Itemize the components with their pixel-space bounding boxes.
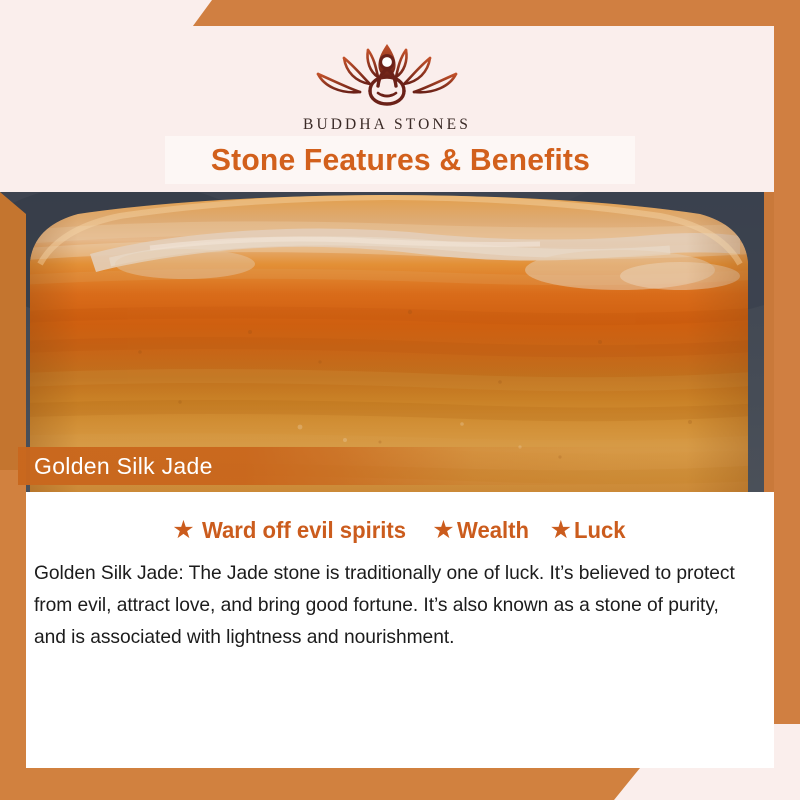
title-banner: Stone Features & Benefits bbox=[165, 136, 635, 184]
stone-name-label: Golden Silk Jade bbox=[34, 453, 213, 480]
frame-bottom-bar bbox=[0, 768, 640, 800]
benefit-label: Ward off evil spirits bbox=[202, 517, 406, 544]
benefits-list: ★ Ward off evil spirits ★ Wealth ★ Luck bbox=[26, 492, 774, 544]
benefit-item-1: ★ Ward off evil spirits bbox=[172, 517, 414, 544]
lotus-meditation-figure-icon bbox=[302, 34, 472, 112]
infographic-page: BUDDHA STONES Stone Features & Benefits bbox=[0, 0, 800, 800]
brand-name: BUDDHA STONES bbox=[303, 116, 471, 134]
benefit-label: Luck bbox=[574, 517, 626, 544]
benefit-item-3: ★ Luck bbox=[550, 517, 628, 544]
star-icon: ★ bbox=[172, 518, 194, 543]
frame-left-bar bbox=[0, 470, 26, 800]
star-icon: ★ bbox=[432, 518, 454, 543]
benefit-item-2: ★ Wealth bbox=[432, 517, 531, 544]
star-icon: ★ bbox=[550, 518, 572, 543]
stone-name-banner: Golden Silk Jade bbox=[18, 447, 778, 485]
frame-right-bar bbox=[774, 0, 800, 724]
content-area: ★ Ward off evil spirits ★ Wealth ★ Luck … bbox=[26, 492, 774, 768]
page-title: Stone Features & Benefits bbox=[210, 142, 589, 178]
brand-logo: BUDDHA STONES bbox=[302, 34, 472, 134]
stone-description: Golden Silk Jade: The Jade stone is trad… bbox=[34, 558, 755, 653]
benefit-label: Wealth bbox=[457, 517, 529, 544]
